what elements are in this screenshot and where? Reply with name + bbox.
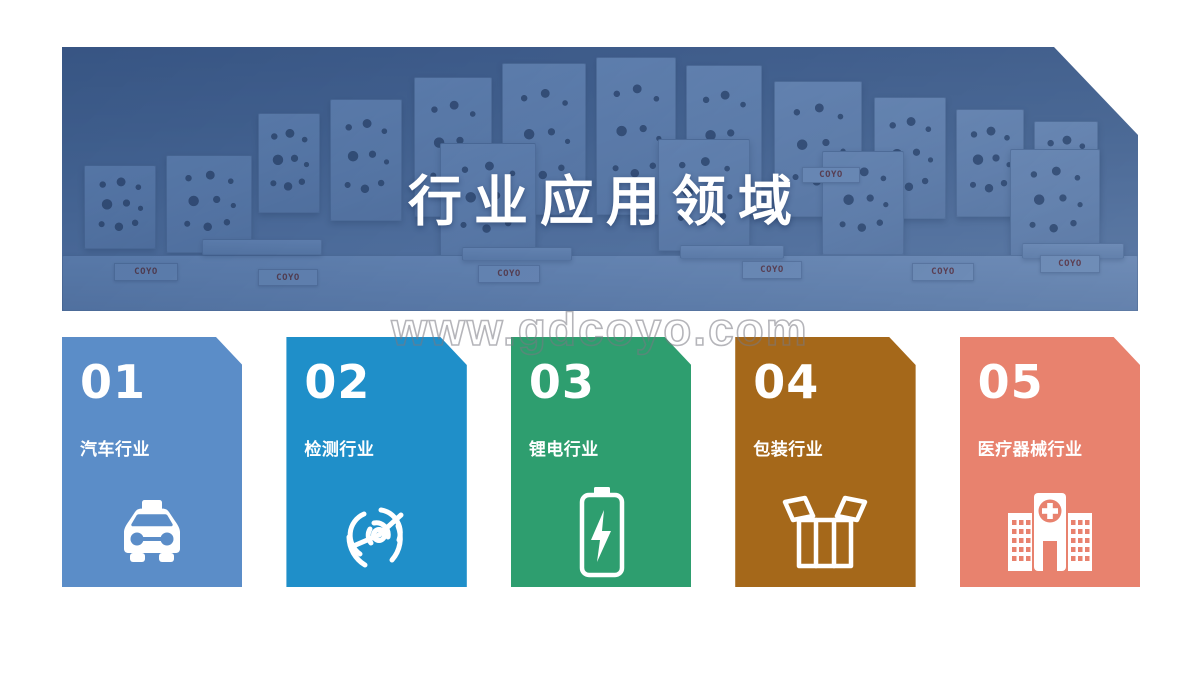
- open-box-icon: [753, 476, 897, 587]
- industry-card-medical-devices[interactable]: 05 医疗器械行业: [960, 337, 1140, 587]
- industry-card-inspection[interactable]: 02 检测行业: [286, 337, 466, 587]
- card-number: 05: [978, 359, 1044, 405]
- card-label: 医疗器械行业: [978, 435, 1083, 460]
- card-label: 汽车行业: [80, 435, 150, 460]
- page-title: 行业应用领域: [62, 175, 1138, 229]
- hero-banner: COYO COYO COYO COYO COYO COYO COYO 行业应用领…: [62, 47, 1138, 311]
- card-number: 02: [304, 359, 370, 405]
- battery-icon: [529, 476, 673, 587]
- card-label: 锂电行业: [529, 435, 599, 460]
- industry-card-automotive[interactable]: 01 汽车行业: [62, 337, 242, 587]
- car-icon: [80, 476, 224, 587]
- card-number: 01: [80, 359, 146, 405]
- radar-detection-icon: [304, 476, 448, 587]
- industry-card-lithium-battery[interactable]: 03 锂电行业: [511, 337, 691, 587]
- card-number: 03: [529, 359, 595, 405]
- industry-card-packaging[interactable]: 04 包装行业: [735, 337, 915, 587]
- card-label: 包装行业: [753, 435, 823, 460]
- slide-industry-applications: COYO COYO COYO COYO COYO COYO COYO 行业应用领…: [0, 0, 1200, 675]
- card-label: 检测行业: [304, 435, 374, 460]
- hospital-icon: [978, 476, 1122, 587]
- industry-card-row: 01 汽车行业 02 检测行业: [62, 337, 1140, 587]
- card-number: 04: [753, 359, 819, 405]
